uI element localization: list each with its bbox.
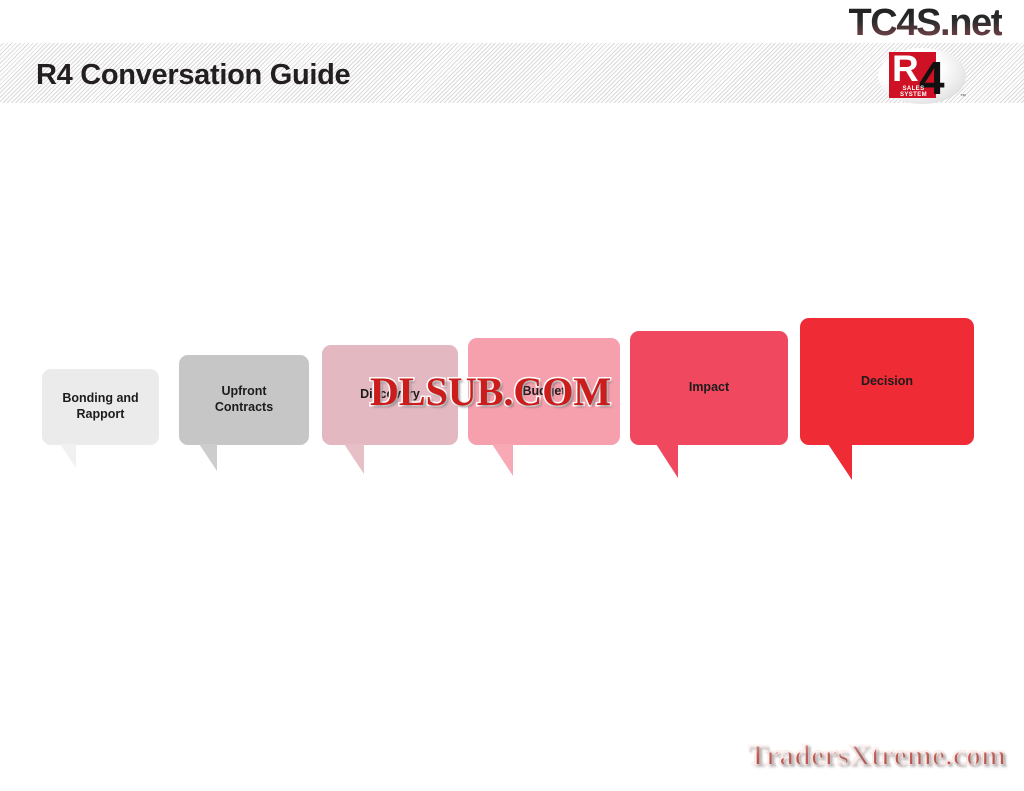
speech-bubble-shape: Bonding and Rapport — [42, 369, 159, 445]
speech-bubble-tail — [492, 444, 513, 476]
process-step-6: Decision — [800, 318, 974, 445]
process-step-5: Impact — [630, 331, 788, 445]
slide-canvas: R4 Conversation Guide TC4S.net R 4 SALES… — [0, 0, 1024, 791]
process-step-2: Upfront Contracts — [179, 355, 309, 445]
process-step-label: Decision — [853, 374, 921, 390]
speech-bubble-tail — [344, 444, 364, 474]
process-step-label: Bonding and Rapport — [54, 391, 146, 422]
watermark-center: DLSUB.COM — [370, 368, 611, 415]
speech-bubble-tail — [60, 444, 76, 468]
speech-bubble-tail — [199, 444, 217, 471]
process-step-1: Bonding and Rapport — [42, 369, 159, 445]
speech-bubble-shape: Decision — [800, 318, 974, 445]
speech-bubble-tail — [828, 444, 852, 480]
watermark-bottom-right: TradersXtreme.com — [748, 739, 1006, 773]
speech-bubble-tail — [656, 444, 678, 478]
speech-bubble-shape: Impact — [630, 331, 788, 445]
speech-bubble-shape: Upfront Contracts — [179, 355, 309, 445]
process-step-label: Upfront Contracts — [207, 384, 281, 415]
process-step-label: Impact — [681, 380, 737, 396]
